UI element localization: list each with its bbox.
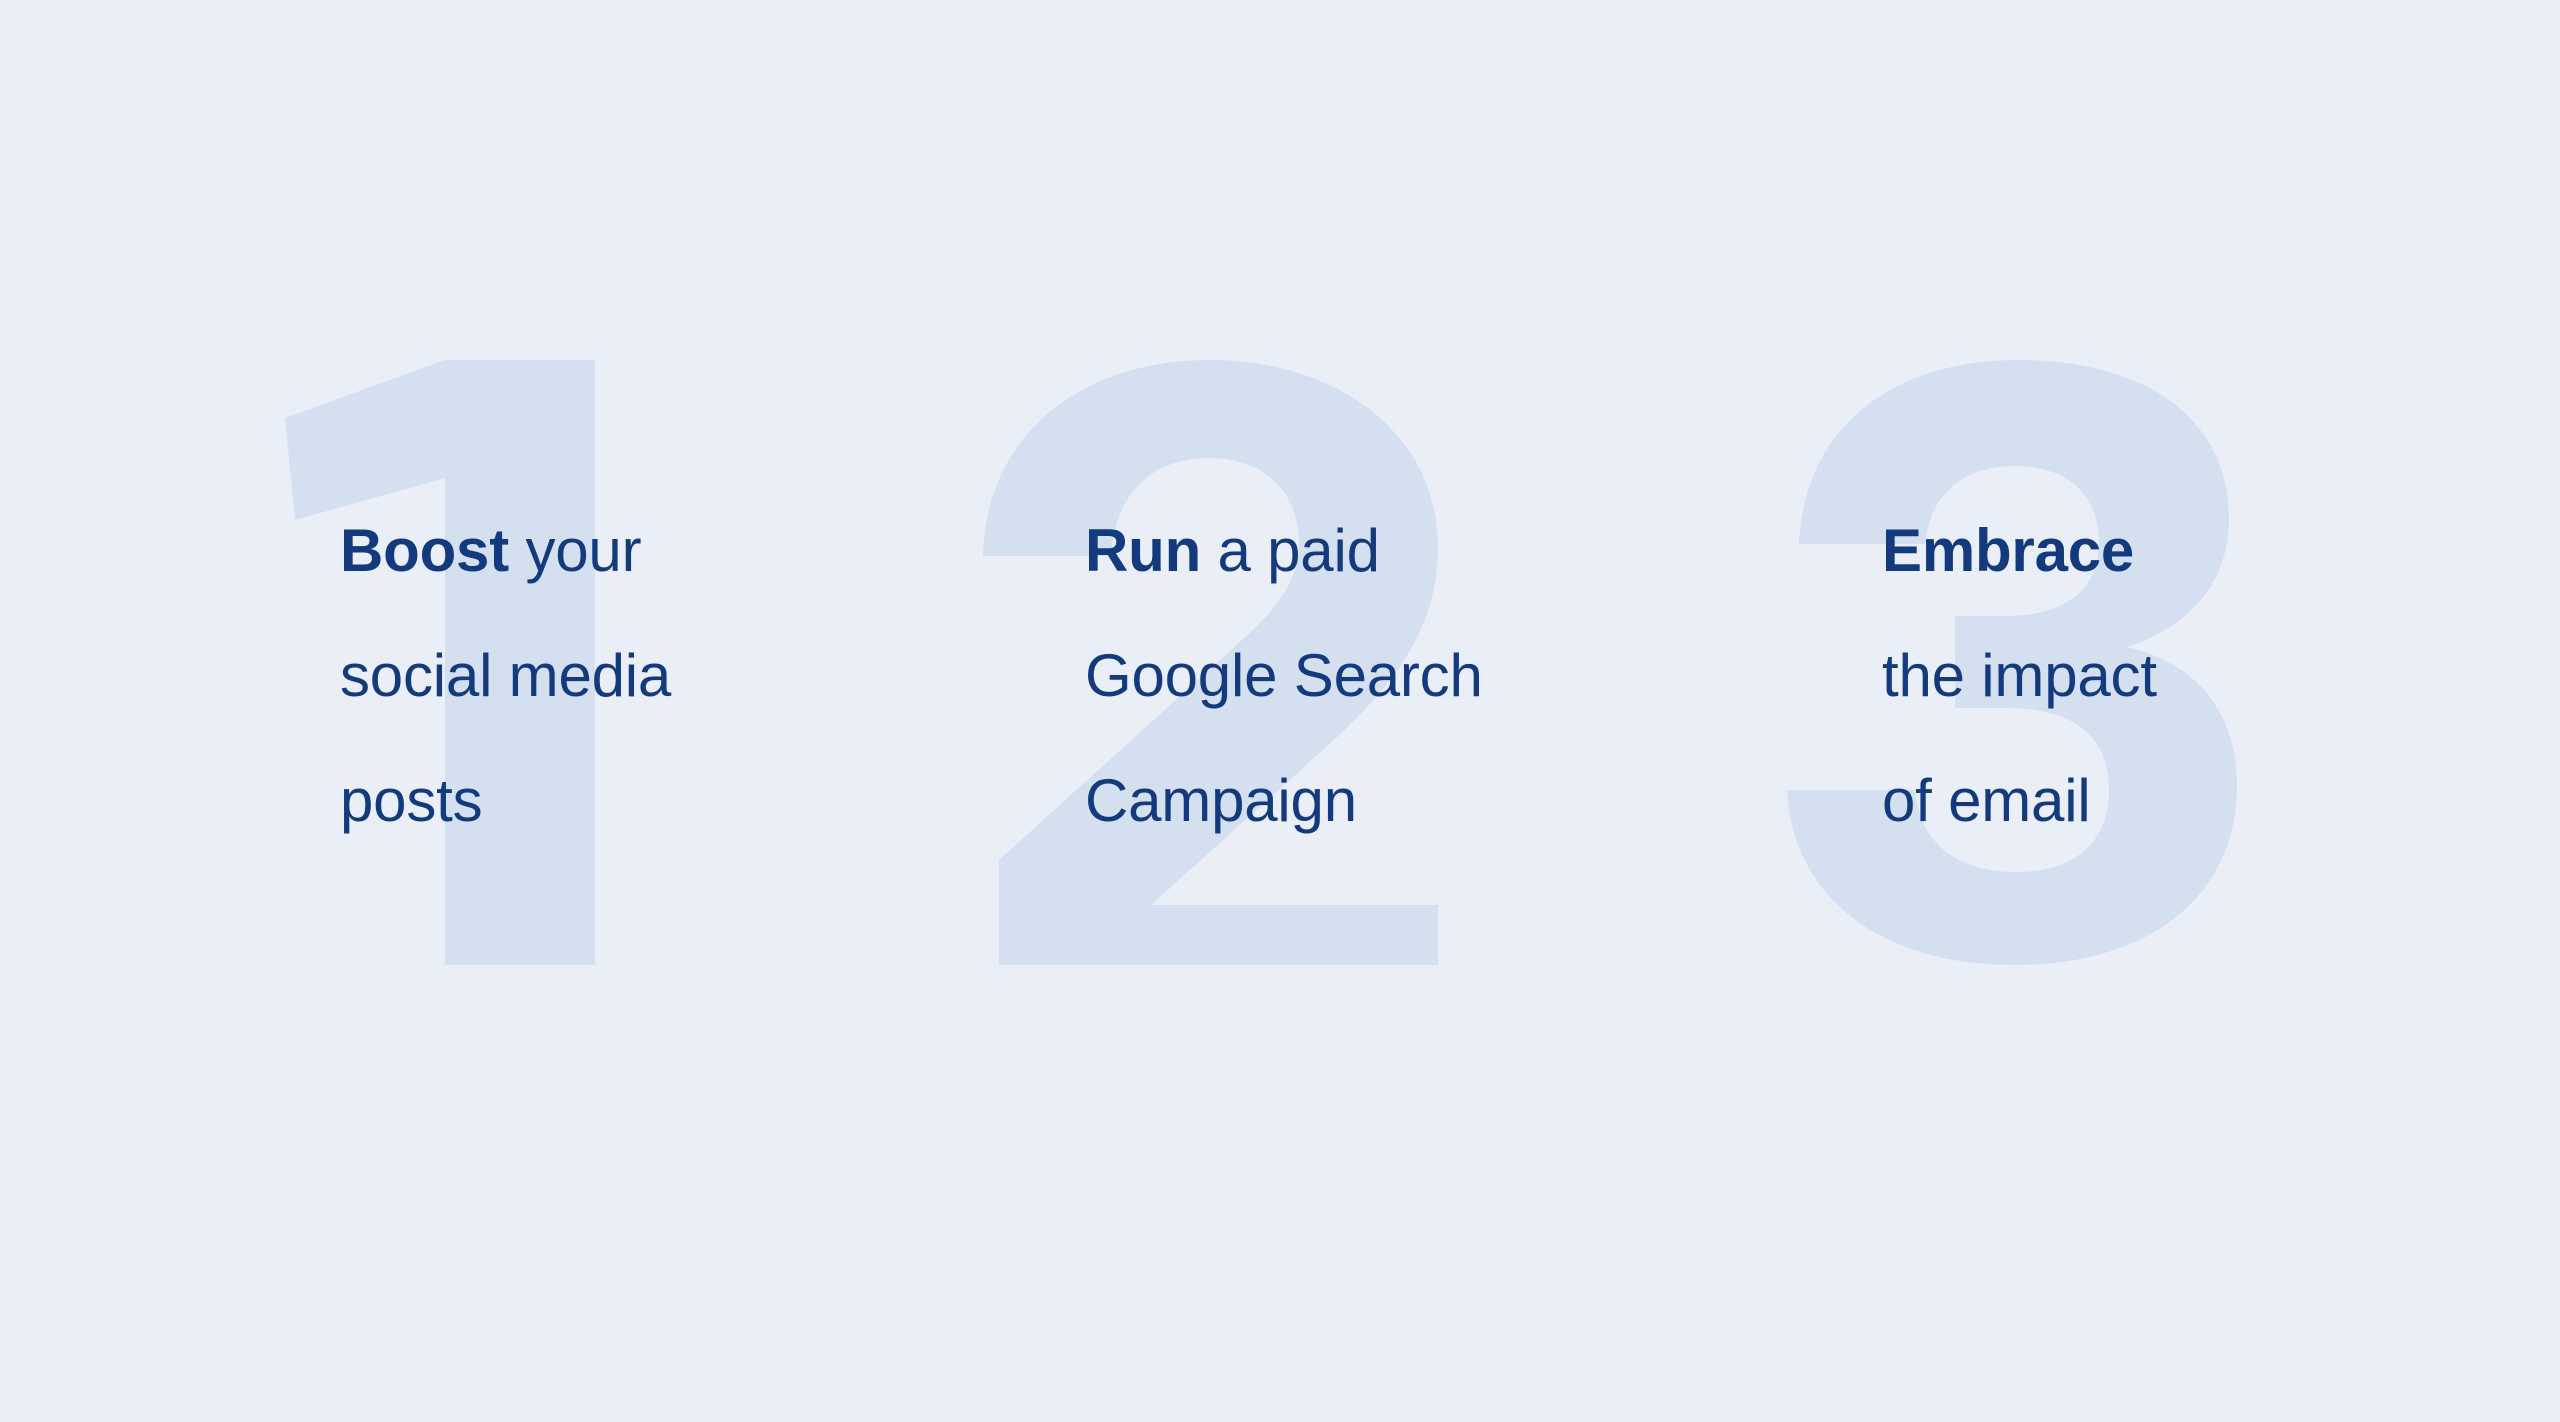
caption-line-2: social media (340, 613, 960, 738)
step-caption-2: Run a paid Google Search Campaign (1085, 488, 1725, 863)
caption-line-2: Google Search (1085, 613, 1725, 738)
step-item-2: Run a paid Google Search Campaign (975, 0, 1755, 1422)
slide-canvas: Boost your social media posts Run a paid… (0, 0, 2560, 1422)
caption-lead-word: Boost (340, 517, 509, 584)
caption-line-1-rest: your (509, 517, 641, 584)
caption-line-3: of email (1882, 738, 2502, 863)
caption-line-1: Embrace (1882, 488, 2502, 613)
steps-container: Boost your social media posts Run a paid… (0, 0, 2560, 1422)
caption-lead-word: Embrace (1882, 517, 2134, 584)
step-item-3: Embrace the impact of email (1775, 0, 2555, 1422)
caption-line-2: the impact (1882, 613, 2502, 738)
step-caption-3: Embrace the impact of email (1882, 488, 2502, 863)
caption-line-1: Run a paid (1085, 488, 1725, 613)
caption-line-3: Campaign (1085, 738, 1725, 863)
step-caption-1: Boost your social media posts (340, 488, 960, 863)
caption-lead-word: Run (1085, 517, 1201, 584)
step-item-1: Boost your social media posts (230, 0, 1010, 1422)
caption-line-1: Boost your (340, 488, 960, 613)
caption-line-3: posts (340, 738, 960, 863)
caption-line-1-rest: a paid (1201, 517, 1380, 584)
